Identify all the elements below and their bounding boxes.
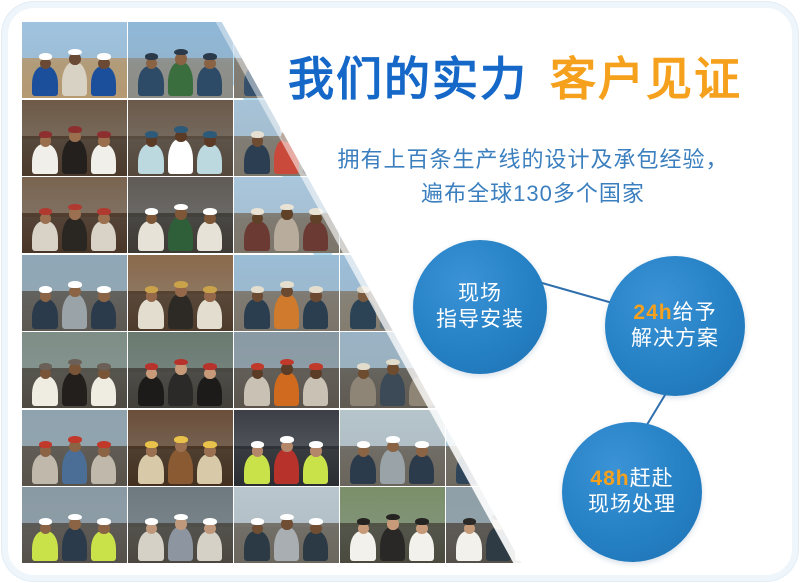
tile-photo [234,487,339,563]
tile-figure-hat [357,518,371,525]
tile-photo [446,487,551,563]
tile-figure [274,294,299,329]
tile-figure-hat [280,126,294,133]
tile-figure [486,372,511,407]
tile-figure-hat [174,126,188,133]
tile-figure [380,294,405,329]
tile-figure-hat [357,131,371,138]
tile-figure-hat [309,363,323,370]
tile-figure-hat [39,208,53,215]
tile-figure-hat [251,131,265,138]
tile-figure-hat [415,441,429,448]
tile-photo [128,100,233,176]
tile-figure [456,376,481,406]
tile-figure [350,454,375,484]
badge1-line1: 现场 [458,281,502,307]
badge3-line1: 48h赶赴 [590,466,673,492]
tile-figure-hat [174,359,188,366]
collage-tile [22,332,127,408]
collage-tile [22,100,127,176]
tile-figure [62,372,87,407]
tile-figure [197,454,222,484]
tile-figure-hat [145,518,159,525]
tile-figure-hat [68,436,82,443]
tile-figure-hat [280,204,294,211]
tile-photo [128,332,233,408]
tile-figure [62,217,87,252]
tile-figure [138,66,163,96]
tile-figure [409,454,434,484]
tile-figure [303,531,328,561]
tile-photo [128,22,233,98]
tile-figure-hat [174,204,188,211]
tile-figure-hat [280,436,294,443]
tile-figure-hat [97,441,111,448]
tile-figure [456,454,481,484]
tile-figure [409,531,434,561]
tile-photo [446,410,551,486]
tile-figure [91,144,116,174]
tile-photo [22,332,127,408]
tile-figure-hat [251,208,265,215]
tile-figure-hat [145,286,159,293]
tile-figure [274,449,299,484]
tile-figure-hat [203,518,217,525]
tile-figure-hat [39,518,53,525]
tile-figure [91,221,116,251]
tile-figure-hat [39,363,53,370]
tile-figure [197,376,222,406]
tile-figure-hat [280,514,294,521]
tile-figure-hat [357,286,371,293]
collage-tile [446,410,551,486]
tile-figure [138,376,163,406]
tile-figure-hat [521,131,535,138]
tile-figure [91,66,116,96]
tile-photo [234,410,339,486]
badge3-amber: 48h [590,467,629,490]
tile-figure-hat [386,126,400,133]
collage-tile [128,100,233,176]
tile-figure [91,299,116,329]
tile-photo [128,487,233,563]
tile-photo [128,177,233,253]
tile-figure [197,144,222,174]
title-accent: 客户见证 [550,53,742,105]
tile-figure-hat [97,208,111,215]
collage-tile [128,410,233,486]
tile-figure [168,372,193,407]
tile-figure [380,372,405,407]
tile-figure [197,531,222,561]
tile-figure-hat [309,518,323,525]
tile-figure-hat [97,363,111,370]
tile-figure [168,217,193,252]
tile-figure-hat [203,363,217,370]
tile-figure [244,66,269,96]
tile-figure [274,372,299,407]
collage-tile [128,487,233,563]
collage-tile [22,22,127,98]
tile-figure [350,531,375,561]
tile-figure [274,139,299,174]
tile-figure [32,144,57,174]
badge-24h-solution[interactable]: 24h给予 解决方案 [605,256,745,396]
subtitle-line-1: 拥有上百条生产线的设计及承包经验， [308,143,758,177]
tile-figure [32,66,57,96]
tile-figure [456,531,481,561]
tile-figure-hat [415,518,429,525]
tile-figure-hat [251,441,265,448]
tile-photo [22,487,127,563]
collage-tile [340,410,445,486]
tile-figure [168,527,193,562]
tile-figure-hat [145,53,159,60]
tile-figure [138,299,163,329]
tile-figure [244,221,269,251]
collage-tile [22,487,127,563]
tile-figure [244,299,269,329]
tile-figure-hat [68,281,82,288]
tile-figure [62,449,87,484]
badge2-line2: 解决方案 [631,326,719,352]
tile-figure-hat [415,363,429,370]
rounded-frame: 我们的实力客户见证 拥有上百条生产线的设计及承包经验， 遍布全球130多个国家 … [8,8,792,575]
tile-figure-hat [251,363,265,370]
tile-figure-hat [521,441,535,448]
tile-figure [244,531,269,561]
tile-figure [197,221,222,251]
tile-figure-hat [309,441,323,448]
tile-figure-hat [521,363,535,370]
tile-figure [303,454,328,484]
tile-figure [32,376,57,406]
tile-figure-hat [386,436,400,443]
tile-figure-hat [203,131,217,138]
tile-figure [168,139,193,174]
banner-root: 我们的实力客户见证 拥有上百条生产线的设计及承包经验， 遍布全球130多个国家 … [0,0,800,583]
tile-figure [380,217,405,252]
tile-photo [22,255,127,331]
tile-photo [234,332,339,408]
badge-on-site-installation[interactable]: 现场 指导安装 [413,240,547,374]
tile-figure-hat [251,518,265,525]
tile-figure [91,531,116,561]
tile-figure [168,294,193,329]
tile-figure-hat [68,204,82,211]
tile-figure-hat [68,49,82,56]
tile-figure-hat [174,49,188,56]
tile-figure [486,527,511,562]
badge2-amber: 24h [633,301,672,324]
tile-figure [350,299,375,329]
tile-figure-hat [463,518,477,525]
collage-tile [128,332,233,408]
tile-figure-hat [174,514,188,521]
tile-figure-hat [68,514,82,521]
tile-figure-hat [492,436,506,443]
tile-figure-hat [97,286,111,293]
tile-photo [22,410,127,486]
tile-figure-hat [415,131,429,138]
tile-figure-hat [386,359,400,366]
tile-figure [62,139,87,174]
tile-figure [168,449,193,484]
tile-figure-hat [39,441,53,448]
collage-tile [234,255,339,331]
tile-figure-hat [251,53,265,60]
tile-figure-hat [39,53,53,60]
badge1-line2: 指导安装 [436,307,524,333]
tile-figure-hat [357,441,371,448]
tile-figure [197,299,222,329]
tile-figure [274,217,299,252]
tile-figure [138,221,163,251]
tile-figure-hat [521,518,535,525]
page-title: 我们的实力客户见证 [288,56,758,102]
tile-figure-hat [97,53,111,60]
tile-figure [380,527,405,562]
badge3-text: 赶赴 [630,467,674,490]
tile-figure [244,144,269,174]
tile-figure-hat [357,363,371,370]
tile-figure [515,376,540,406]
tile-figure-hat [203,208,217,215]
tile-photo [340,487,445,563]
tile-figure-hat [463,131,477,138]
tile-figure-hat [309,286,323,293]
tile-figure-hat [280,281,294,288]
tile-figure-hat [145,208,159,215]
badge2-line1: 24h给予 [633,300,716,326]
tile-photo [22,22,127,98]
tile-figure [274,527,299,562]
tile-photo [234,255,339,331]
title-primary: 我们的实力 [288,53,528,105]
tile-figure [91,376,116,406]
tile-figure [168,62,193,97]
tile-figure-hat [280,359,294,366]
tile-figure [138,531,163,561]
tile-figure-hat [203,53,217,60]
tile-figure [91,454,116,484]
collage-tile [128,22,233,98]
collage-tile [234,332,339,408]
tile-figure-hat [39,286,53,293]
badge2-text: 给予 [673,301,717,324]
tile-figure-hat [97,131,111,138]
tile-figure-hat [145,363,159,370]
subtitle: 拥有上百条生产线的设计及承包经验， 遍布全球130多个国家 [308,143,758,211]
tile-figure-hat [174,436,188,443]
collage-tile [446,487,551,563]
tile-figure-hat [309,131,323,138]
collage-tile [22,177,127,253]
badge-48h-on-site[interactable]: 48h赶赴 现场处理 [562,422,702,562]
tile-photo [22,177,127,253]
tile-figure [32,454,57,484]
collage-tile [234,410,339,486]
tile-figure [197,66,222,96]
collage-tile [128,177,233,253]
tile-photo [128,255,233,331]
tile-figure [409,376,434,406]
tile-figure-hat [203,286,217,293]
tile-figure [32,221,57,251]
tile-figure [515,454,540,484]
tile-figure-hat [39,131,53,138]
tile-figure-hat [97,518,111,525]
tile-figure-hat [492,514,506,521]
tile-figure-hat [68,359,82,366]
tile-photo [22,100,127,176]
collage-tile [22,410,127,486]
tile-figure-hat [492,126,506,133]
collage-tile [234,487,339,563]
tile-figure [244,454,269,484]
tile-figure [32,299,57,329]
tile-photo [128,410,233,486]
tile-figure [409,221,434,251]
collage-tile [128,255,233,331]
badge3-line2: 现场处理 [588,492,676,518]
tile-figure-hat [174,281,188,288]
tile-figure [62,294,87,329]
tile-figure-hat [145,441,159,448]
tile-figure-hat [386,281,400,288]
tile-figure [62,527,87,562]
tile-figure [515,221,540,251]
tile-figure-hat [68,126,82,133]
tile-figure-hat [251,286,265,293]
tile-figure [380,449,405,484]
tile-figure [303,299,328,329]
tile-figure [486,449,511,484]
tile-photo [340,410,445,486]
tile-figure [303,221,328,251]
tile-figure [138,454,163,484]
tile-figure [62,62,87,97]
tile-figure [138,144,163,174]
tile-figure [303,376,328,406]
collage-tile [22,255,127,331]
tile-figure-hat [386,514,400,521]
tile-figure [350,221,375,251]
tile-figure [515,531,540,561]
tile-figure-hat [463,441,477,448]
tile-figure-hat [145,131,159,138]
tile-figure-hat [203,441,217,448]
tile-figure [244,376,269,406]
collage-tile [340,487,445,563]
tile-figure [350,376,375,406]
subtitle-line-2: 遍布全球130多个国家 [308,177,758,211]
tile-figure [32,531,57,561]
